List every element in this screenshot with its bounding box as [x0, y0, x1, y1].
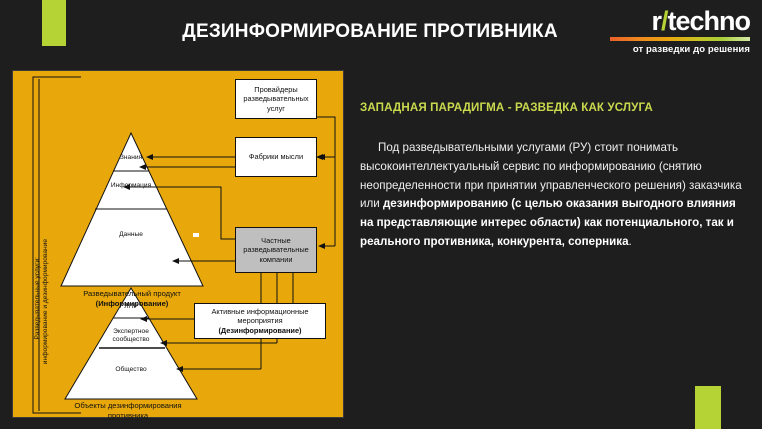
box-providers[interactable]: Провайдерыразведывательныхуслуг	[235, 79, 317, 119]
paragraph-bold-1: дезинформированию (с целью оказания выго…	[360, 197, 736, 248]
brand-logo: r/techno от разведки до решения	[610, 8, 750, 55]
box-active-measures[interactable]	[193, 233, 199, 237]
logo-wordmark: r/techno	[610, 8, 750, 35]
diagram-vertical-label-1: Разведывательные услуги:	[34, 257, 41, 339]
content-heading: ЗАПАДНАЯ ПАРАДИГМА - РАЗВЕДКА КАК УСЛУГА	[360, 100, 752, 115]
accent-bar-top-icon	[42, 0, 66, 46]
logo-tagline: от разведки до решения	[610, 44, 750, 55]
diagram-panel: Разведывательные услуги: информирование …	[12, 70, 344, 418]
box-private-companies[interactable]: Частныеразведывательныекомпании	[235, 227, 317, 273]
box-think-tanks[interactable]: Фабрики мысли	[235, 137, 317, 177]
box-private-companies-label: Частныеразведывательныекомпании	[243, 236, 309, 265]
top-pyramid-caption-line1: Разведывательный продукт	[83, 289, 181, 298]
page-title: ДЕЗИНФОРМИРОВАНИЕ ПРОТИВНИКА	[120, 21, 620, 43]
tier-knowledge: Знания	[71, 154, 191, 162]
content-column: ЗАПАДНАЯ ПАРАДИГМА - РАЗВЕДКА КАК УСЛУГА…	[360, 100, 752, 252]
logo-prefix: r	[651, 6, 661, 36]
bottom-pyramid-caption: Объекты дезинформирования противника	[43, 401, 213, 421]
tier-data: Данные	[71, 231, 191, 239]
logo-gradient-bar-icon	[610, 37, 750, 41]
box-providers-label: Провайдерыразведывательныхуслуг	[243, 85, 308, 114]
logo-suffix: techno	[667, 6, 750, 36]
bottom-pyramid-caption-line2: противника	[108, 411, 148, 420]
box-active-measures-label: Активные информационныемероприятия(Дезин…	[211, 307, 308, 336]
tier-decision-makers: ЛПР	[71, 303, 191, 311]
box-think-tanks-label: Фабрики мысли	[249, 152, 303, 162]
bottom-pyramid-caption-line1: Объекты дезинформирования	[74, 401, 181, 410]
accent-bar-bottom-icon	[695, 386, 721, 429]
paragraph-plain-2: .	[629, 235, 632, 248]
content-paragraph: Под разведывательными услугами (РУ) стои…	[360, 139, 752, 252]
slide-root: ДЕЗИНФОРМИРОВАНИЕ ПРОТИВНИКА r/techno от…	[0, 0, 762, 429]
tier-society: Общество	[71, 366, 191, 374]
tier-expert-community: Экспертноесообщество	[71, 328, 191, 343]
tier-information: Информация	[71, 182, 191, 190]
